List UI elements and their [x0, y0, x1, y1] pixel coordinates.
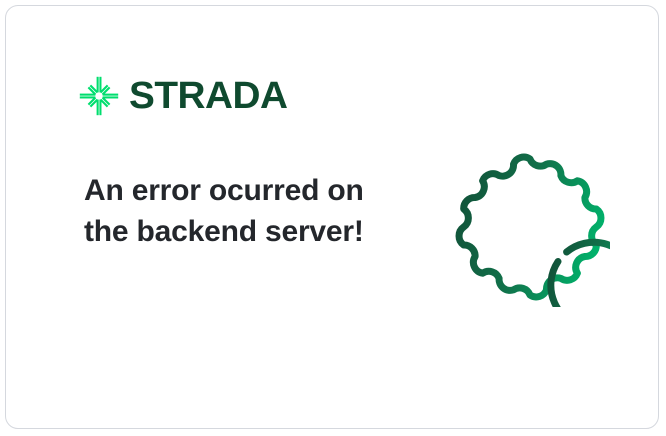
brand-wordmark: STRADA [129, 77, 287, 115]
error-card: STRADA An error ocurred on the backend s… [5, 5, 659, 429]
strada-asterisk-icon [79, 76, 119, 116]
brand-lockup: STRADA [79, 76, 284, 116]
error-message-text: An error ocurred on the backend server! [84, 170, 374, 252]
gear-icon [450, 147, 610, 307]
